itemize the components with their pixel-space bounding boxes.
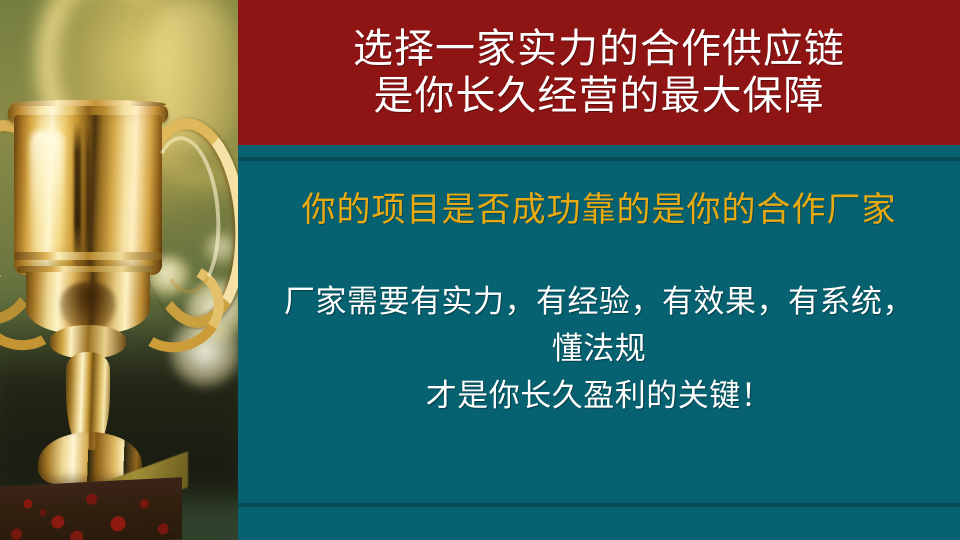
trophy-photo	[0, 0, 238, 540]
title-banner: 选择一家实力的合作供应链 是你长久经营的最大保障	[238, 0, 960, 145]
trophy-reflection-streak	[74, 122, 81, 270]
body-line-3: 才是你长久盈利的关键！	[284, 372, 914, 419]
title-line-2: 是你长久经营的最大保障	[374, 73, 825, 119]
trophy-marble-base	[0, 477, 182, 540]
panel-subheading: 你的项目是否成功靠的是你的合作厂家	[302, 191, 897, 232]
trophy-icon	[0, 0, 238, 540]
trophy-bowl-shadow	[60, 282, 116, 330]
panel-body-text: 厂家需要有实力，有经验，有效果，有系统， 懂法规 才是你长久盈利的关键！	[284, 278, 914, 419]
title-line-1: 选择一家实力的合作供应链	[353, 26, 845, 72]
body-line-2: 懂法规	[284, 325, 914, 372]
content-panel: 你的项目是否成功靠的是你的合作厂家 厂家需要有实力，有经验，有效果，有系统， 懂…	[238, 145, 960, 540]
trophy-band	[14, 252, 162, 260]
panel-divider-bottom	[238, 503, 960, 507]
trophy-highlight	[30, 130, 64, 262]
panel-content: 你的项目是否成功靠的是你的合作厂家 厂家需要有实力，有经验，有效果，有系统， 懂…	[238, 161, 960, 503]
trophy-reflection-streak	[86, 126, 90, 266]
body-line-1: 厂家需要有实力，有经验，有效果，有系统，	[284, 278, 914, 325]
slide-canvas: 选择一家实力的合作供应链 是你长久经营的最大保障 你的项目是否成功靠的是你的合作…	[0, 0, 960, 540]
